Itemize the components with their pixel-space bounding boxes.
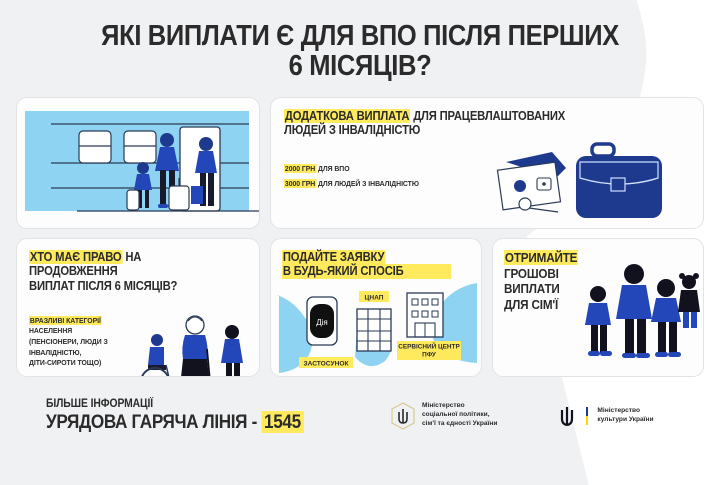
- family-illustration: [576, 250, 704, 362]
- logo2-line1: Міністерство: [597, 407, 653, 416]
- extra-payment-heading-highlight: ДОДАТКОВА ВИПЛАТА: [284, 109, 410, 123]
- label-app-text: ЗАСТОСУНОК: [303, 360, 349, 367]
- eligibility-heading-highlight: ХТО МАЄ ПРАВО: [29, 250, 122, 264]
- footer-more-info: БІЛЬШЕ ІНФОРМАЦІЇ: [46, 398, 343, 411]
- receive-heading-line3: ВИПЛАТИ: [504, 281, 569, 297]
- label-cnap-text: ЦНАП: [365, 294, 384, 301]
- apply-heading: ПОДАЙТЕ ЗАЯВКУ В БУДЬ-ЯКИЙ СПОСІБ: [282, 250, 451, 280]
- receive-heading-line4: ДЛЯ СІМ'Ї: [504, 297, 569, 313]
- amount-ipd: 2000 ГРН ДЛЯ ВПО: [284, 164, 466, 173]
- footer: БІЛЬШЕ ІНФОРМАЦІЇ УРЯДОВА ГАРЯЧА ЛІНІЯ -…: [16, 386, 704, 446]
- cards-row-top: ДОДАТКОВА ВИПЛАТА ДЛЯ ПРАЦЕВЛАШТОВАНИХ Л…: [16, 97, 704, 229]
- apply-heading-highlight: ПОДАЙТЕ ЗАЯВКУ: [282, 250, 385, 264]
- amount-disability: 3000 ГРН ДЛЯ ЛЮДЕЙ З ІНВАЛІДНІСТЮ: [284, 179, 466, 188]
- wallet-briefcase-illustration: [480, 138, 690, 229]
- amount-disability-value: 3000 ГРН: [284, 179, 316, 188]
- logo2-line2: культури України: [597, 416, 653, 425]
- extra-payment-amounts: 2000 ГРН ДЛЯ ВПО 3000 ГРН ДЛЯ ЛЮДЕЙ З ІН…: [284, 138, 480, 229]
- eligibility-bullet-vulnerable: ВРАЗЛИВІ КАТЕГОРІЇ НАСЕЛЕННЯ (ПЕНСІОНЕРИ…: [29, 316, 128, 369]
- extra-payment-heading-line2: ЛЮДЕЙ З ІНВАЛІДНІСТЮ: [284, 123, 649, 138]
- card-train-illustration: [16, 97, 260, 229]
- card-apply: ПОДАЙТЕ ЗАЯВКУ В БУДЬ-ЯКИЙ СПОСІБ Дія ЗА…: [270, 238, 482, 377]
- page-title-line1: ЯКІ ВИПЛАТИ Є ДЛЯ ВПО ПІСЛЯ ПЕРШИХ: [101, 20, 619, 52]
- card-receive-payment: ОТРИМАЙТЕ ГРОШОВІ ВИПЛАТИ ДЛЯ СІМ'Ї: [492, 238, 704, 377]
- cards-row-bottom: ХТО МАЄ ПРАВО НА ПРОДОВЖЕННЯ ВИПЛАТ ПІСЛ…: [16, 238, 704, 377]
- page-title-line2: 6 МІСЯЦІВ?: [57, 52, 662, 82]
- receive-heading-highlight: ОТРИМАЙТЕ: [504, 250, 578, 265]
- logo-ministry-culture: Міністерство культури України: [557, 404, 653, 428]
- amount-ipd-label: ДЛЯ ВПО: [316, 164, 349, 173]
- extra-payment-heading: ДОДАТКОВА ВИПЛАТА ДЛЯ ПРАЦЕВЛАШТОВАНИХ Л…: [284, 109, 649, 139]
- logo1-line3: сім'ї та єдності України: [422, 420, 497, 429]
- train-family-illustration: [17, 98, 260, 229]
- label-pfu-line2: ПФУ: [422, 351, 437, 358]
- receive-heading-line2: ГРОШОВІ: [504, 266, 569, 282]
- logo-culture-text: Міністерство культури України: [597, 407, 653, 425]
- flag-bar-yellow: [586, 416, 588, 425]
- logo-ministry-social-policy: Міністерство соціальної політики, сім'ї …: [390, 402, 497, 430]
- card-eligibility: ХТО МАЄ ПРАВО НА ПРОДОВЖЕННЯ ВИПЛАТ ПІСЛ…: [16, 238, 260, 377]
- footer-hotline-label: УРЯДОВА ГАРЯЧА ЛІНІЯ -: [46, 411, 261, 433]
- phone-app-label: Дія: [316, 318, 328, 327]
- flag-bar-blue: [586, 407, 588, 416]
- logo-social-policy-text: Міністерство соціальної політики, сім'ї …: [422, 402, 497, 429]
- amount-ipd-value: 2000 ГРН: [284, 164, 316, 173]
- page-title: ЯКІ ВИПЛАТИ Є ДЛЯ ВПО ПІСЛЯ ПЕРШИХ 6 МІС…: [57, 0, 662, 82]
- logo1-line2: соціальної політики,: [422, 411, 497, 420]
- vulnerable-line3: ДІТИ-СИРОТИ ТОЩО): [29, 358, 128, 369]
- footer-hotline: УРЯДОВА ГАРЯЧА ЛІНІЯ - 1545: [46, 412, 336, 434]
- apply-methods-illustration: Дія ЗАСТОСУНОК ЦНАП: [271, 277, 482, 377]
- flag-bars: [586, 407, 588, 425]
- vulnerable-rest: НАСЕЛЕННЯ: [29, 326, 72, 335]
- tryzub-icon: [557, 404, 577, 428]
- tryzub-hexagon-icon: [390, 402, 416, 430]
- label-pfu-line1: СЕРВІСНИЙ ЦЕНТР: [398, 341, 460, 350]
- footer-hotline-number: 1545: [261, 411, 303, 433]
- eligibility-heading-line2: ВИПЛАТ ПІСЛЯ 6 МІСЯЦІВ?: [29, 279, 225, 294]
- extra-payment-heading-rest: ДЛЯ ПРАЦЕВЛАШТОВАНИХ: [410, 109, 565, 123]
- vulnerable-highlight: ВРАЗЛИВІ КАТЕГОРІЇ: [29, 316, 102, 325]
- card-extra-payment: ДОДАТКОВА ВИПЛАТА ДЛЯ ПРАЦЕВЛАШТОВАНИХ Л…: [270, 97, 704, 229]
- vulnerable-line2: (ПЕНСІОНЕРИ, ЛЮДИ З ІНВАЛІДНІСТЮ,: [29, 337, 128, 358]
- eligibility-heading: ХТО МАЄ ПРАВО НА ПРОДОВЖЕННЯ ВИПЛАТ ПІСЛ…: [29, 250, 225, 294]
- infographic-page: ЯКІ ВИПЛАТИ Є ДЛЯ ВПО ПІСЛЯ ПЕРШИХ 6 МІС…: [0, 0, 720, 485]
- vulnerable-people-illustration: [135, 294, 247, 377]
- ministry-logos: Міністерство соціальної політики, сім'ї …: [376, 402, 704, 430]
- logo1-line1: Міністерство: [422, 402, 497, 411]
- amount-disability-label: ДЛЯ ЛЮДЕЙ З ІНВАЛІДНІСТЮ: [316, 179, 419, 188]
- receive-heading: ОТРИМАЙТЕ ГРОШОВІ ВИПЛАТИ ДЛЯ СІМ'Ї: [504, 250, 569, 313]
